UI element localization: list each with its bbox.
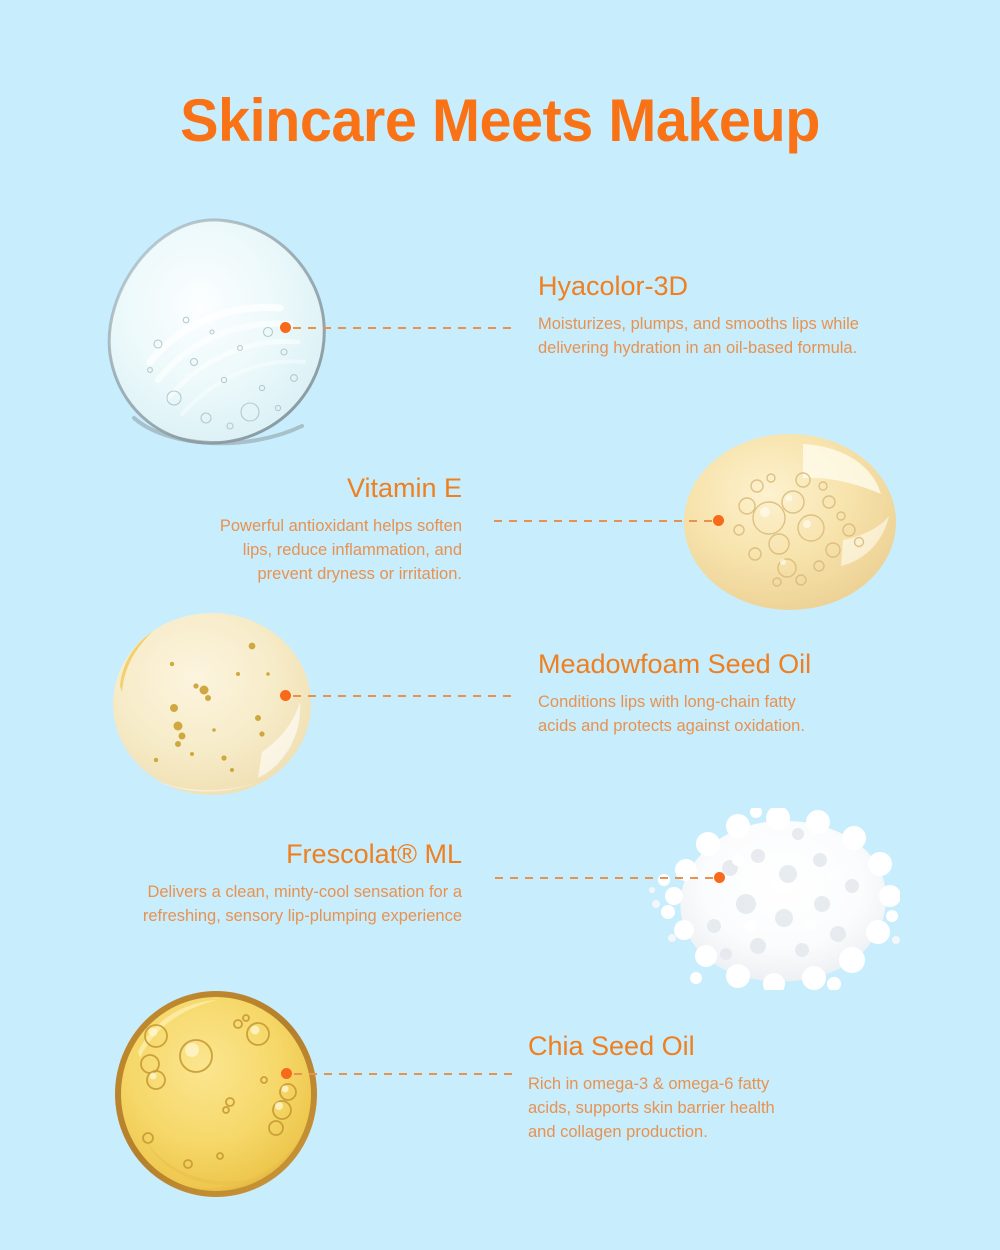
connector-line-vitamin-e (494, 520, 716, 522)
description-line: refreshing, sensory lip-plumping experie… (96, 905, 462, 929)
ingredient-description-vitamin-e: Powerful antioxidant helps soften lips, … (100, 515, 462, 587)
infographic-root: Skincare Meets Makeup (0, 0, 1000, 1250)
connector-dot-frescolat-ml (714, 872, 725, 883)
connector-dot-vitamin-e (713, 515, 724, 526)
ingredient-block-vitamin-e: Vitamin E Powerful antioxidant helps sof… (100, 472, 462, 587)
connector-dot-hyacolor-3d (280, 322, 291, 333)
description-line: Moisturizes, plumps, and smooths lips wh… (538, 313, 918, 337)
description-line: Powerful antioxidant helps soften (100, 515, 462, 539)
description-line: Conditions lips with long-chain fatty (538, 691, 918, 715)
ingredient-name-chia-seed-oil: Chia Seed Oil (528, 1030, 908, 1062)
description-line: prevent dryness or irritation. (100, 563, 462, 587)
ingredient-name-frescolat-ml: Frescolat® ML (96, 838, 462, 870)
ingredient-image-pale-cream-oil-droplet (112, 612, 312, 797)
ingredient-name-vitamin-e: Vitamin E (100, 472, 462, 504)
connector-dot-meadowfoam-seed-oil (280, 690, 291, 701)
description-line: delivering hydration in an oil-based for… (538, 337, 918, 361)
connector-dot-chia-seed-oil (281, 1068, 292, 1079)
description-line: lips, reduce inflammation, and (100, 539, 462, 563)
page-title: Skincare Meets Makeup (20, 86, 980, 155)
ingredient-image-amber-gold-oil-droplet (112, 988, 320, 1200)
ingredient-block-meadowfoam-seed-oil: Meadowfoam Seed Oil Conditions lips with… (538, 648, 918, 739)
connector-line-hyacolor-3d (293, 327, 515, 329)
ingredient-description-chia-seed-oil: Rich in omega-3 & omega-6 fatty acids, s… (528, 1073, 908, 1145)
ingredient-block-chia-seed-oil: Chia Seed Oil Rich in omega-3 & omega-6 … (528, 1030, 908, 1145)
description-line: and collagen production. (528, 1121, 908, 1145)
ingredient-block-frescolat-ml: Frescolat® ML Delivers a clean, minty-co… (96, 838, 462, 929)
connector-line-meadowfoam-seed-oil (293, 695, 515, 697)
ingredient-name-meadowfoam-seed-oil: Meadowfoam Seed Oil (538, 648, 918, 680)
ingredient-image-white-crystalline-powder (638, 808, 900, 990)
description-line: Delivers a clean, minty-cool sensation f… (96, 881, 462, 905)
ingredient-description-meadowfoam-seed-oil: Conditions lips with long-chain fatty ac… (538, 691, 918, 739)
ingredient-name-hyacolor-3d: Hyacolor-3D (538, 270, 918, 302)
connector-line-chia-seed-oil (294, 1073, 516, 1075)
connector-line-frescolat-ml (495, 877, 717, 879)
description-line: Rich in omega-3 & omega-6 fatty (528, 1073, 908, 1097)
ingredient-description-frescolat-ml: Delivers a clean, minty-cool sensation f… (96, 881, 462, 929)
description-line: acids and protects against oxidation. (538, 715, 918, 739)
description-line: acids, supports skin barrier health (528, 1097, 908, 1121)
ingredient-image-clear-gel-droplet (98, 212, 338, 452)
ingredient-block-hyacolor-3d: Hyacolor-3D Moisturizes, plumps, and smo… (538, 270, 918, 361)
ingredient-description-hyacolor-3d: Moisturizes, plumps, and smooths lips wh… (538, 313, 918, 361)
